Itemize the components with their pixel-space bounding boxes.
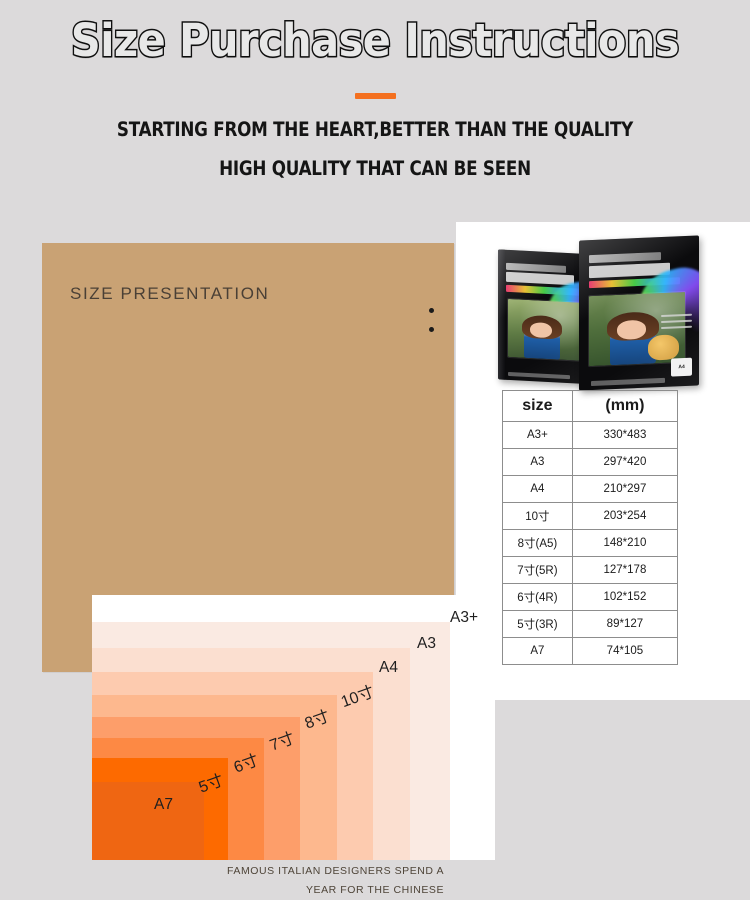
table-cell-size: A3 (503, 449, 573, 476)
size-blocks-diagram: A3+A3A410寸8寸7寸6寸5寸A7 (92, 595, 495, 860)
table-row: A3297*420 (503, 449, 678, 476)
table-row: A3+330*483 (503, 422, 678, 449)
size-block-label-A3: A3 (417, 635, 436, 653)
presentation-footer: FAMOUS ITALIAN DESIGNERS SPEND A YEAR FO… (227, 862, 444, 900)
product-packaging-image: A4 (474, 232, 734, 392)
presentation-footer-line-2: YEAR FOR THE CHINESE (227, 881, 444, 900)
table-row: A774*105 (503, 638, 678, 665)
page-title: Size Purchase Instructions (30, 14, 720, 68)
table-row: 7寸(5R)127*178 (503, 557, 678, 584)
table-row: 6寸(4R)102*152 (503, 584, 678, 611)
size-block-A7 (92, 782, 204, 860)
subtitle-line-2: HIGH QUALITY THAT CAN BE SEEN (53, 157, 698, 180)
table-cell-mm: 210*297 (572, 476, 677, 503)
size-presentation-heading: SIZE PRESENTATION (70, 284, 269, 304)
table-row: A4210*297 (503, 476, 678, 503)
table-column-header: size (503, 391, 573, 422)
page-root: Size Purchase Instructions STARTING FROM… (0, 0, 750, 750)
table-cell-size: A7 (503, 638, 573, 665)
box-gloss (579, 235, 699, 390)
table-cell-size: 8寸(A5) (503, 530, 573, 557)
photo-paper-box-front: A4 (579, 235, 699, 390)
bullet-dot-icon (429, 308, 434, 313)
table-cell-mm: 74*105 (572, 638, 677, 665)
table-cell-size: 5寸(3R) (503, 611, 573, 638)
size-block-label-A4: A4 (379, 659, 398, 677)
table-cell-mm: 330*483 (572, 422, 677, 449)
table-header-row: size(mm) (503, 391, 678, 422)
table-cell-size: A4 (503, 476, 573, 503)
table-cell-mm: 89*127 (572, 611, 677, 638)
subtitle-line-1: STARTING FROM THE HEART,BETTER THAN THE … (53, 118, 698, 141)
table-cell-size: 7寸(5R) (503, 557, 573, 584)
size-presentation-panel: SIZE PRESENTATION A3+A3A410寸8寸7寸6寸5寸A7 F… (42, 243, 454, 672)
decorative-dots (429, 308, 434, 346)
table-cell-mm: 148*210 (572, 530, 677, 557)
table-cell-mm: 102*152 (572, 584, 677, 611)
table-cell-mm: 127*178 (572, 557, 677, 584)
product-info-panel: A4 size(mm)A3+330*483A3297*420A4210*2971… (456, 222, 750, 700)
table-column-header: (mm) (572, 391, 677, 422)
table-cell-size: 10寸 (503, 503, 573, 530)
table-row: 5寸(3R)89*127 (503, 611, 678, 638)
table-cell-mm: 297*420 (572, 449, 677, 476)
presentation-footer-line-1: FAMOUS ITALIAN DESIGNERS SPEND A (227, 862, 444, 881)
size-block-label-A7: A7 (154, 796, 173, 814)
size-block-label-A3+: A3+ (450, 609, 478, 627)
table-row: 8寸(A5)148*210 (503, 530, 678, 557)
title-divider (355, 93, 396, 99)
size-table: size(mm)A3+330*483A3297*420A4210*29710寸2… (502, 390, 678, 665)
bullet-dot-icon (429, 327, 434, 332)
table-cell-size: 6寸(4R) (503, 584, 573, 611)
table-cell-size: A3+ (503, 422, 573, 449)
table-row: 10寸203*254 (503, 503, 678, 530)
table-cell-mm: 203*254 (572, 503, 677, 530)
